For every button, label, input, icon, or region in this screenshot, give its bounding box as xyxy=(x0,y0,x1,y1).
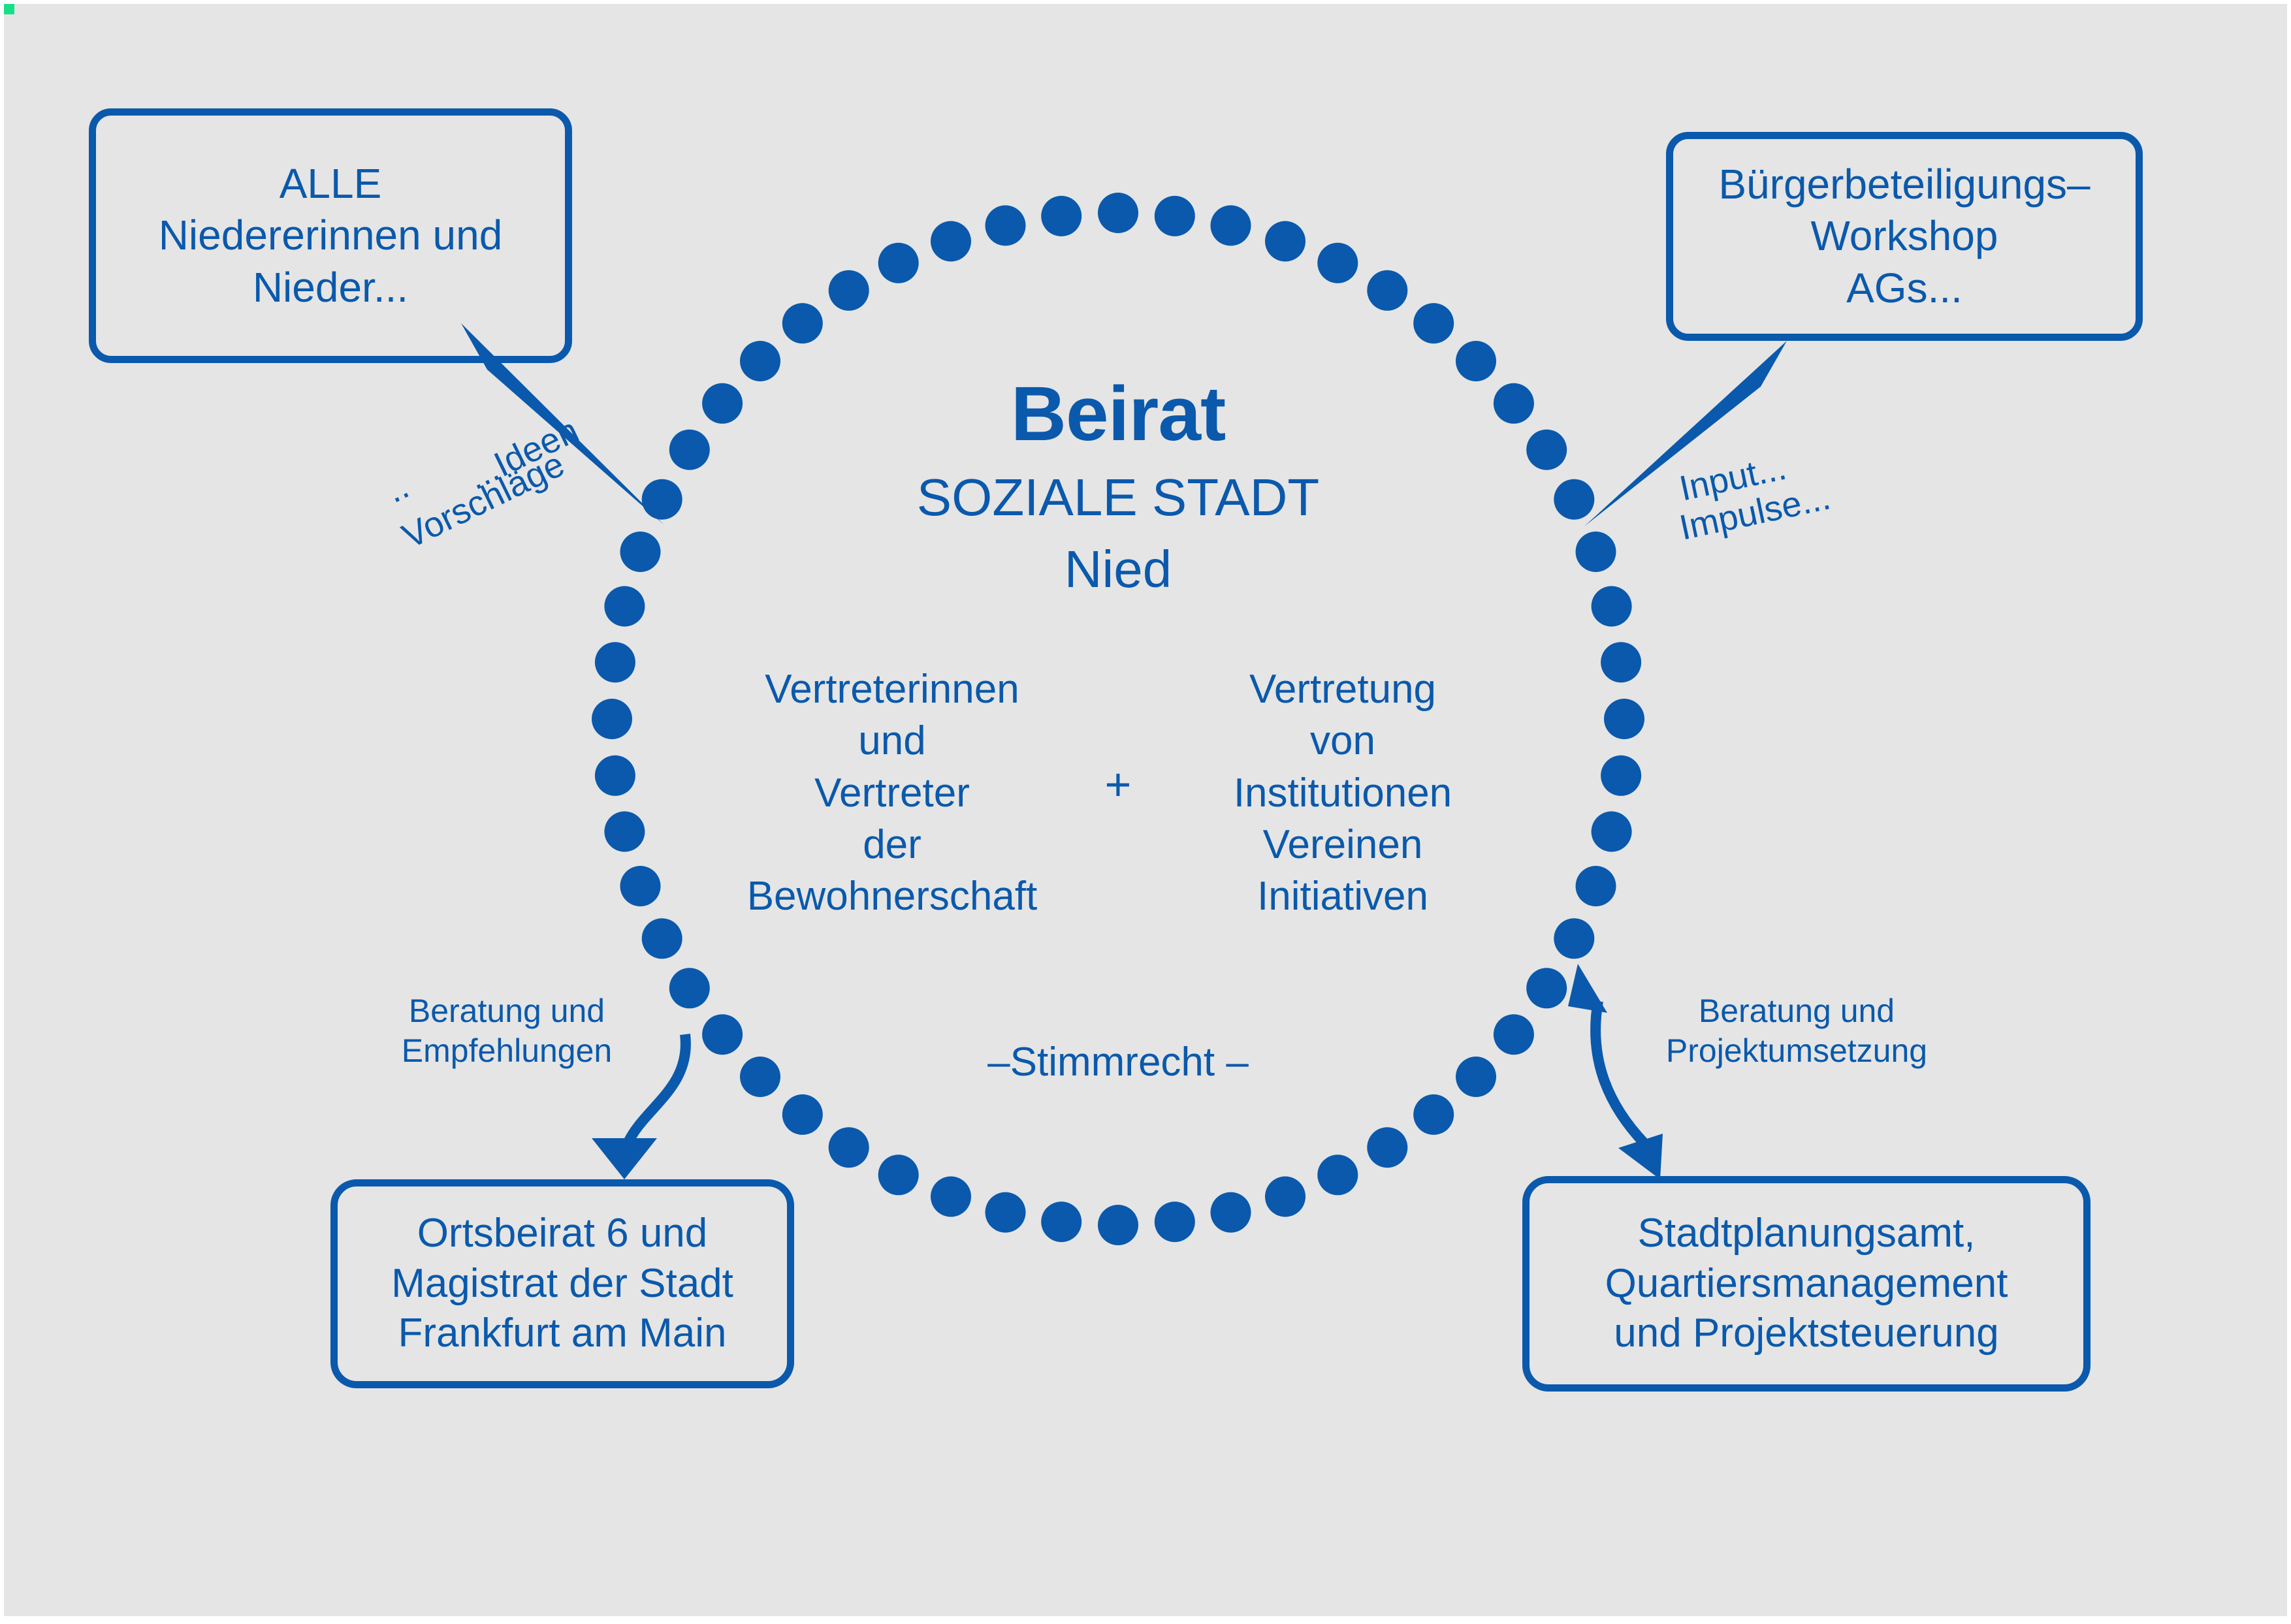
ring-dot xyxy=(1211,1192,1251,1233)
ring-dot xyxy=(620,866,661,906)
ring-dot xyxy=(1413,1094,1454,1135)
ring-dot xyxy=(1456,1057,1496,1097)
annotation-beratung-projektumsetzung: Beratung und Projektumsetzung xyxy=(1643,991,1950,1071)
ring-dot xyxy=(592,699,632,739)
ring-dot xyxy=(985,205,1026,246)
ring-dot xyxy=(1317,243,1358,283)
ring-dot xyxy=(1456,341,1496,381)
ring-dot xyxy=(1592,586,1632,627)
ring-dot xyxy=(702,383,743,424)
ring-dot xyxy=(829,1127,869,1168)
center-voting-note: –Stimmrecht – xyxy=(987,1039,1249,1085)
ring-dot xyxy=(1494,1014,1534,1055)
ring-dot xyxy=(604,586,645,627)
ring-dot xyxy=(740,1057,780,1097)
arrowhead-up-right xyxy=(1568,964,1607,1013)
box-ortsbeirat-magistrat[interactable]: Ortsbeirat 6 und Magistrat der Stadt Fra… xyxy=(330,1179,794,1388)
ring-dot xyxy=(642,918,682,959)
ring-dot xyxy=(620,532,661,572)
ring-dot xyxy=(740,341,780,381)
ring-dot xyxy=(1098,1205,1138,1245)
arrow-beratung-projektumsetzung xyxy=(1595,1001,1644,1143)
ring-dot xyxy=(1604,699,1644,739)
speech-bubble-workshop-text: Bürgerbeteiligungs– Workshop AGs... xyxy=(1718,159,2090,314)
ring-dot xyxy=(878,1154,919,1195)
ring-dot xyxy=(1098,193,1138,233)
ring-dot xyxy=(878,243,919,283)
ring-dot xyxy=(1413,303,1454,343)
center-left-column: Vertreterinnen und Vertreter der Bewohne… xyxy=(690,663,1095,923)
ring-dot xyxy=(1526,968,1567,1008)
box-stadtplanungsamt[interactable]: Stadtplanungsamt, Quartiersmanagement un… xyxy=(1522,1176,2091,1392)
ring-dot xyxy=(1265,1177,1306,1217)
speech-bubble-residents[interactable]: ALLE Niedererinnen und Nieder... xyxy=(89,108,572,363)
box-stadtplanungsamt-text: Stadtplanungsamt, Quartiersmanagement un… xyxy=(1605,1209,2008,1360)
ring-dot xyxy=(669,430,710,470)
ring-dot xyxy=(985,1192,1026,1233)
ring-dot xyxy=(1155,1202,1195,1242)
ring-dot xyxy=(1367,1127,1407,1168)
ring-dot xyxy=(1601,642,1641,682)
ring-dot xyxy=(642,479,682,520)
ring-dot xyxy=(595,756,635,796)
ring-dot xyxy=(669,968,710,1008)
speech-bubble-workshop[interactable]: Bürgerbeteiligungs– Workshop AGs... xyxy=(1666,132,2143,341)
ring-dot xyxy=(1576,866,1616,906)
arrowhead-down-left xyxy=(592,1138,657,1179)
ring-dot xyxy=(1265,221,1306,262)
center-subtitle-line2: Nied xyxy=(1065,539,1172,599)
ring-dot xyxy=(604,812,645,852)
ring-dot xyxy=(782,1094,823,1135)
ring-dot xyxy=(1367,270,1407,311)
center-right-column: Vertretung von Institutionen Vereinen In… xyxy=(1179,663,1506,923)
ring-dot xyxy=(1211,205,1251,246)
ring-dot xyxy=(1526,430,1567,470)
ring-dot xyxy=(931,221,971,262)
center-title: Beirat xyxy=(1011,370,1225,458)
ring-dot xyxy=(1554,479,1594,520)
annotation-beratung-empfehlungen: Beratung und Empfehlungen xyxy=(376,991,637,1071)
speech-bubble-residents-text: ALLE Niedererinnen und Nieder... xyxy=(159,158,503,313)
ring-dot xyxy=(702,1014,743,1055)
plus-sign: + xyxy=(1105,758,1132,810)
center-subtitle-line1: SOZIALE STADT xyxy=(917,468,1319,528)
ring-dot xyxy=(1592,812,1632,852)
ring-dot xyxy=(782,303,823,343)
diagram-canvas: ALLE Niedererinnen und Nieder... Bürgerb… xyxy=(0,0,2291,1620)
ring-dot xyxy=(1576,532,1616,572)
ring-dot xyxy=(595,642,635,682)
ring-dot xyxy=(1041,196,1081,236)
ring-dot xyxy=(1494,383,1534,424)
ring-dot xyxy=(829,270,869,311)
box-ortsbeirat-text: Ortsbeirat 6 und Magistrat der Stadt Fra… xyxy=(391,1209,733,1360)
ring-dot xyxy=(1554,918,1594,959)
ring-dot xyxy=(1155,196,1195,236)
ring-dot xyxy=(1601,756,1641,796)
ring-dot xyxy=(1317,1154,1358,1195)
ring-dot xyxy=(931,1177,971,1217)
ring-dot xyxy=(1041,1202,1081,1242)
